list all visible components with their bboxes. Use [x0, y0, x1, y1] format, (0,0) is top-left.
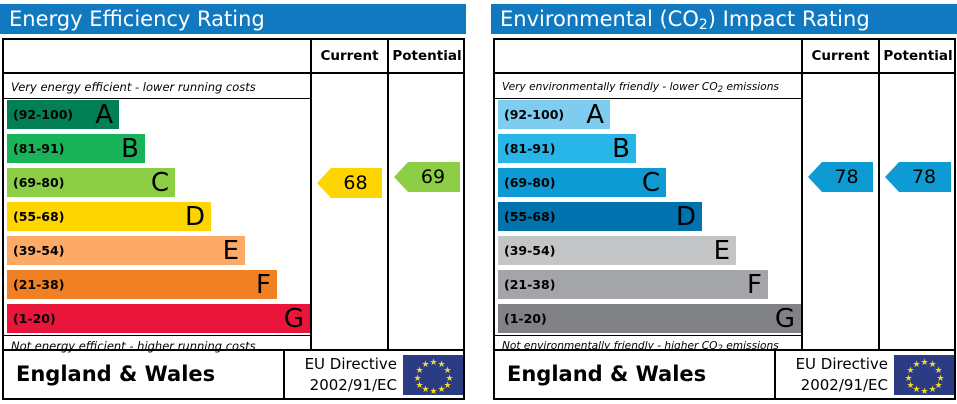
- co2-caption-top-prefix: Very environmentally friendly - lower CO: [502, 81, 718, 93]
- energy-band-c: (69-80) C: [7, 168, 175, 197]
- energy-band-a-letter: A: [95, 100, 113, 129]
- co2-band-g: (1-20) G: [498, 304, 801, 333]
- co2-band-g-range: (1-20): [504, 304, 547, 333]
- co2-footer: England & Wales EU Directive 2002/91/EC …: [495, 349, 954, 398]
- co2-chart-body: Current Potential Very environmentally f…: [493, 38, 956, 400]
- co2-band-e-range: (39-54): [504, 236, 555, 265]
- co2-band-c-range: (69-80): [504, 168, 555, 197]
- environmental-impact-rating-chart: Environmental (CO2) Impact Rating Curren…: [491, 0, 957, 404]
- energy-efficiency-rating-chart: Energy Efficiency Rating Current Potenti…: [0, 0, 466, 404]
- co2-column-divider-1: [801, 40, 803, 351]
- co2-chart-title-subscript: 2: [699, 17, 708, 33]
- energy-band-e-range: (39-54): [13, 236, 64, 265]
- co2-potential-rating-arrow: 78: [885, 162, 951, 192]
- co2-band-c-letter: C: [642, 168, 660, 197]
- energy-caption-top-rule: [4, 98, 310, 99]
- energy-chart-body: Current Potential Very energy efficient …: [2, 38, 465, 400]
- co2-footer-directive-line1: EU Directive: [780, 354, 888, 375]
- energy-band-b-letter: B: [121, 134, 139, 163]
- energy-band-e-letter: E: [223, 236, 239, 265]
- energy-current-rating-arrow: 68: [317, 168, 382, 198]
- energy-footer-region: England & Wales: [16, 351, 215, 398]
- co2-band-d-letter: D: [676, 202, 696, 231]
- energy-band-f-range: (21-38): [13, 270, 64, 299]
- co2-band-list: (92-100) A (81-91) B (69-80) C (55-68) D…: [498, 100, 798, 334]
- energy-band-f-letter: F: [256, 270, 271, 299]
- energy-column-header-potential: Potential: [389, 40, 465, 72]
- energy-band-d-letter: D: [185, 202, 205, 231]
- energy-band-e: (39-54) E: [7, 236, 245, 265]
- co2-band-f-range: (21-38): [504, 270, 555, 299]
- co2-band-f: (21-38) F: [498, 270, 768, 299]
- epc-charts-page: Energy Efficiency Rating Current Potenti…: [0, 0, 957, 404]
- energy-band-g-range: (1-20): [13, 304, 56, 333]
- co2-caption-top-suffix: emissions: [723, 81, 779, 93]
- energy-band-a-range: (92-100): [13, 100, 73, 129]
- co2-chart-title: Environmental (CO2) Impact Rating: [491, 4, 957, 34]
- eu-flag-icon: ★ ★ ★ ★ ★ ★ ★ ★ ★ ★ ★ ★: [403, 355, 463, 395]
- co2-band-a-letter: A: [586, 100, 604, 129]
- co2-caption-top-rule: [495, 98, 801, 99]
- energy-band-list: (92-100) A (81-91) B (69-80) C (55-68) D…: [7, 100, 307, 334]
- co2-footer-region: England & Wales: [507, 351, 706, 398]
- energy-band-d-range: (55-68): [13, 202, 64, 231]
- co2-band-a: (92-100) A: [498, 100, 610, 129]
- co2-caption-top-subscript: 2: [718, 85, 723, 95]
- co2-current-rating-arrow: 78: [808, 162, 873, 192]
- energy-band-g: (1-20) G: [7, 304, 310, 333]
- co2-column-header-potential: Potential: [880, 40, 956, 72]
- co2-band-e-letter: E: [714, 236, 730, 265]
- co2-chart-title-suffix: ) Impact Rating: [708, 7, 870, 31]
- energy-band-d: (55-68) D: [7, 202, 211, 231]
- co2-band-b-range: (81-91): [504, 134, 555, 163]
- co2-column-header-current: Current: [803, 40, 878, 72]
- co2-band-e: (39-54) E: [498, 236, 736, 265]
- energy-potential-rating-arrow: 69: [394, 162, 460, 192]
- energy-footer-directive-line2: 2002/91/EC: [289, 375, 397, 396]
- energy-column-divider-1: [310, 40, 312, 351]
- energy-footer-directive-line1: EU Directive: [289, 354, 397, 375]
- co2-band-d: (55-68) D: [498, 202, 702, 231]
- energy-footer-divider: [283, 351, 285, 398]
- co2-caption-top: Very environmentally friendly - lower CO…: [502, 77, 798, 98]
- energy-band-a: (92-100) A: [7, 100, 119, 129]
- co2-footer-directive-line2: 2002/91/EC: [780, 375, 888, 396]
- energy-band-f: (21-38) F: [7, 270, 277, 299]
- co2-band-b: (81-91) B: [498, 134, 636, 163]
- co2-band-g-letter: G: [775, 304, 795, 333]
- co2-footer-divider: [774, 351, 776, 398]
- energy-caption-top: Very energy efficient - lower running co…: [11, 77, 307, 97]
- co2-column-divider-2: [878, 40, 880, 351]
- energy-band-b-range: (81-91): [13, 134, 64, 163]
- energy-column-divider-2: [387, 40, 389, 351]
- energy-band-b: (81-91) B: [7, 134, 145, 163]
- energy-chart-title: Energy Efficiency Rating: [0, 4, 466, 34]
- co2-band-c: (69-80) C: [498, 168, 666, 197]
- energy-column-header-current: Current: [312, 40, 387, 72]
- co2-band-d-range: (55-68): [504, 202, 555, 231]
- co2-band-b-letter: B: [612, 134, 630, 163]
- energy-band-c-range: (69-80): [13, 168, 64, 197]
- eu-flag-icon: ★ ★ ★ ★ ★ ★ ★ ★ ★ ★ ★ ★: [894, 355, 954, 395]
- co2-band-f-letter: F: [747, 270, 762, 299]
- energy-chart-title-text: Energy Efficiency Rating: [9, 7, 265, 31]
- co2-band-a-range: (92-100): [504, 100, 564, 129]
- energy-footer: England & Wales EU Directive 2002/91/EC …: [4, 349, 463, 398]
- co2-footer-directive: EU Directive 2002/91/EC: [780, 354, 888, 396]
- energy-footer-directive: EU Directive 2002/91/EC: [289, 354, 397, 396]
- energy-band-g-letter: G: [284, 304, 304, 333]
- energy-band-c-letter: C: [151, 168, 169, 197]
- co2-chart-title-prefix: Environmental (CO: [500, 7, 699, 31]
